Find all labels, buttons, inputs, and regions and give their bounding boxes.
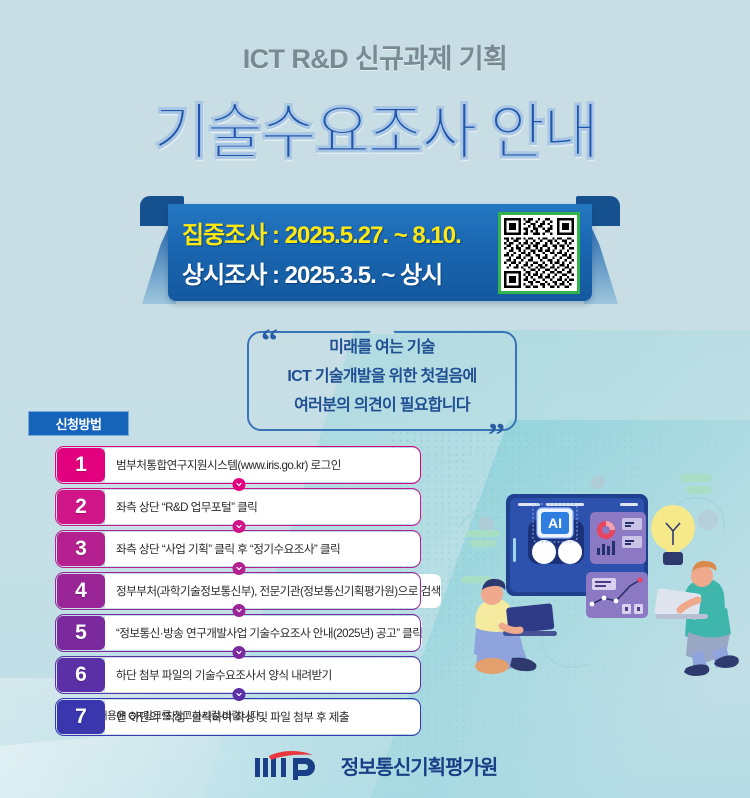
organization-name: 정보통신기획평가원: [341, 751, 498, 780]
qr-code-icon[interactable]: [498, 212, 580, 294]
quote-line-2: ICT 기술개발을 위한 첫걸음에: [249, 362, 515, 386]
quote-close-mark: ”: [488, 419, 505, 453]
chevron-down-icon: [232, 478, 245, 491]
step-item-5[interactable]: 5 “정보통신·방송 연구개발사업 기술수요조사 안내(2025년) 공고” 클…: [57, 616, 420, 650]
quote-notch: [368, 319, 396, 334]
step-text: 좌측 상단 “사업 기획” 클릭 후 “정기수요조사” 클릭: [105, 532, 420, 566]
step-text: “정보통신·방송 연구개발사업 기술수요조사 안내(2025년) 공고” 클릭: [105, 616, 422, 650]
ai-teamwork-illustration: AI: [440, 468, 740, 690]
step-text: 정부부처(과학기술정보통신부), 전문기관(정보통신기획평가원)으로 검색: [105, 574, 441, 608]
step-number-badge: 2: [57, 490, 105, 524]
page-subtitle: ICT R&D 신규과제 기획: [0, 37, 750, 76]
poster-root: ICT R&D 신규과제 기획 기술수요조사 안내 집중조사 : 2025.5.…: [0, 0, 750, 798]
svg-text:AI: AI: [548, 515, 562, 531]
step-item-6[interactable]: 6 하단 첨부 파일의 기술수요조사서 양식 내려받기: [57, 658, 420, 692]
step-text: 범부처통합연구지원시스템(www.iris.go.kr) 로그인: [105, 448, 420, 482]
step-text: 좌측 상단 “R&D 업무포털” 클릭: [105, 490, 420, 524]
chevron-down-icon: [232, 604, 245, 617]
step-number-badge: 3: [57, 532, 105, 566]
ongoing-survey-period: 상시조사 : 2025.3.5. ~ 상시: [182, 255, 488, 290]
chevron-down-icon: [232, 520, 245, 533]
step-item-4[interactable]: 4 정부부처(과학기술정보통신부), 전문기관(정보통신기획평가원)으로 검색: [57, 574, 420, 608]
step-number-badge: 4: [57, 574, 105, 608]
chevron-down-icon: [232, 562, 245, 575]
step-number-badge: 6: [57, 658, 105, 692]
quote-line-1: 미래를 여는 기술: [249, 333, 515, 357]
chevron-down-icon: [232, 688, 245, 701]
header: ICT R&D 신규과제 기획 기술수요조사 안내: [0, 0, 750, 171]
application-steps-list: 1 범부처통합연구지원시스템(www.iris.go.kr) 로그인 2 좌측 …: [57, 448, 420, 742]
method-section-tab: 신청방법: [28, 411, 129, 436]
step-item-1[interactable]: 1 범부처통합연구지원시스템(www.iris.go.kr) 로그인: [57, 448, 420, 482]
step-item-2[interactable]: 2 좌측 상단 “R&D 업무포털” 클릭: [57, 490, 420, 524]
banner-text: 집중조사 : 2025.5.27. ~ 8.10. 상시조사 : 2025.3.…: [182, 215, 488, 290]
step-number-badge: 5: [57, 616, 105, 650]
intensive-survey-period: 집중조사 : 2025.5.27. ~ 8.10.: [182, 215, 488, 250]
step-item-3[interactable]: 3 좌측 상단 “사업 기획” 클릭 후 “정기수요조사” 클릭: [57, 532, 420, 566]
page-title: 기술수요조사 안내: [0, 82, 750, 171]
iitp-logo-icon: [253, 750, 331, 780]
footer-logo: 정보통신기획평가원: [0, 750, 750, 780]
quote-bubble: “ ” 미래를 여는 기술 ICT 기술개발을 위한 첫걸음에 여러분의 의견이…: [247, 331, 517, 431]
ribbon-body: 집중조사 : 2025.5.27. ~ 8.10. 상시조사 : 2025.3.…: [168, 204, 592, 301]
date-banner: 집중조사 : 2025.5.27. ~ 8.10. 상시조사 : 2025.3.…: [140, 196, 620, 304]
step-number-badge: 7: [57, 700, 105, 734]
quote-open-mark: “: [261, 325, 278, 359]
step-text: 하단 첨부 파일의 기술수요조사서 양식 내려받기: [105, 658, 420, 692]
quote-line-3: 여러분의 의견이 필요합니다: [249, 391, 515, 415]
chevron-down-icon: [232, 646, 245, 659]
step-number-badge: 1: [57, 448, 105, 482]
